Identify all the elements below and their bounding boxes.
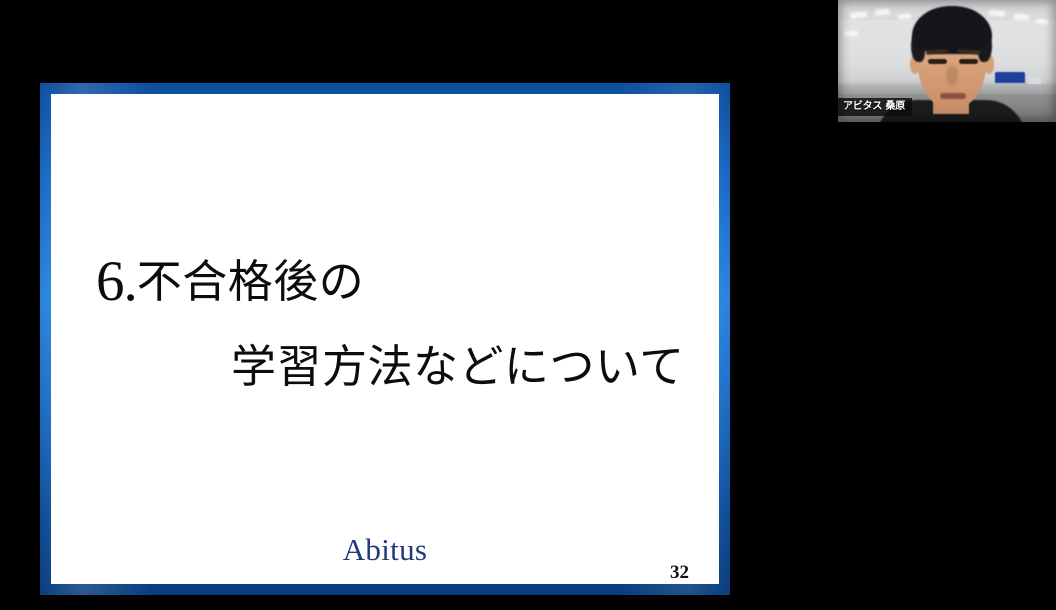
slide-title-line-1: 6.不合格後の [51, 252, 719, 312]
presenter-hair [912, 6, 992, 54]
presenter-eye-left [928, 59, 947, 64]
slide-title-block: 6.不合格後の 学習方法などについて [51, 252, 719, 391]
presenter-nose [946, 66, 958, 86]
slide-page-number: 32 [670, 562, 689, 584]
webcam-pip-panel[interactable]: アビタス 桑原 [838, 0, 1056, 122]
slide-title-text-1: 不合格後の [137, 257, 365, 307]
presentation-slide[interactable]: 6.不合格後の 学習方法などについて Abitus 32 [40, 83, 730, 595]
presenter-eye-right [959, 59, 978, 64]
abitus-logo: Abitus [51, 532, 719, 568]
slide-section-number: 6. [96, 250, 137, 313]
slide-title-line-2: 学習方法などについて [51, 344, 719, 391]
participant-name-label: アビタス 桑原 [838, 98, 912, 116]
screen-share-stage: 6.不合格後の 学習方法などについて Abitus 32 [0, 0, 1056, 610]
presenter-mouth [940, 93, 966, 99]
slide-canvas: 6.不合格後の 学習方法などについて Abitus 32 [51, 94, 719, 584]
